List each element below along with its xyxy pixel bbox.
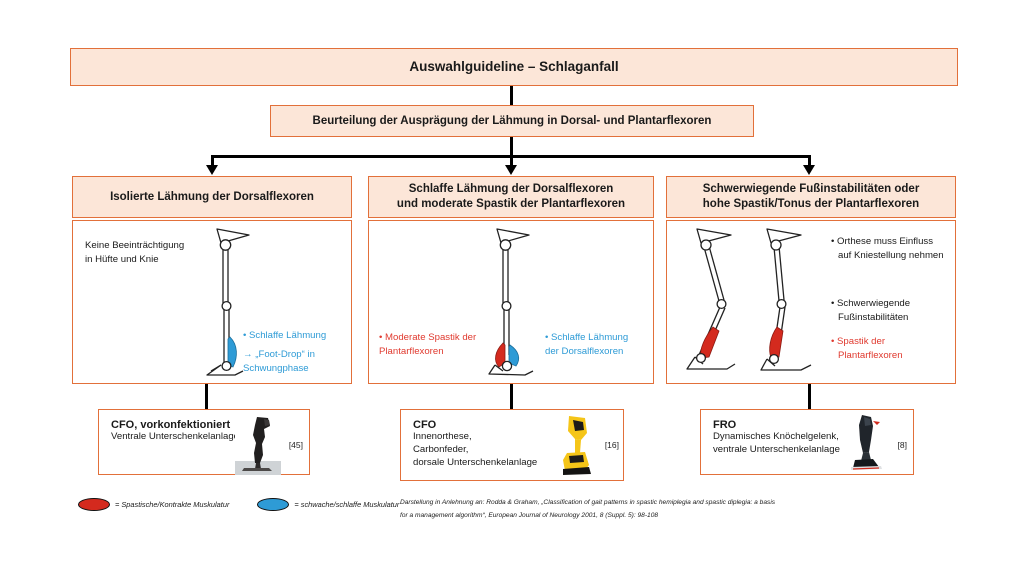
column-body-1: Keine Beeinträchtigung in Hüfte und Knie… <box>72 220 352 384</box>
assessment-text: Beurteilung der Ausprägung der Lähmung i… <box>313 114 712 129</box>
result-2-line-3: dorsale Unterschenkelanlage <box>413 457 537 470</box>
column-3-note-black-2: • Schwerwiegende Fußinstabilitäten <box>831 297 910 325</box>
arrow-to-column-2 <box>505 165 517 175</box>
column-header-1-text: Isolierte Lähmung der Dorsalflexoren <box>110 190 314 205</box>
arrow-to-column-3 <box>803 165 815 175</box>
connector-col2-to-result <box>510 384 513 409</box>
result-box-1: CFO, vorkonfektioniert Ventrale Untersch… <box>98 409 310 475</box>
result-2-line-1: Innenorthese, <box>413 431 537 444</box>
result-3-title: FRO <box>713 419 840 431</box>
column-3-note-red: • Spastik der Plantarflexoren <box>831 335 903 363</box>
blue-ellipse-icon <box>257 498 289 511</box>
connector-col1-to-result <box>205 384 208 409</box>
citation-line-1: Darstellung in Anlehnung an: Rodda & Gra… <box>400 497 830 510</box>
flowchart-canvas: Auswahlguideline – Schlaganfall Beurteil… <box>0 0 1024 576</box>
column-body-2: • Moderate Spastik der Plantarflexoren •… <box>368 220 654 384</box>
result-box-2: CFO Innenorthese, Carbonfeder, dorsale U… <box>400 409 624 481</box>
result-2-title: CFO <box>413 419 537 431</box>
column-header-3-text: Schwerwiegende Fußinstabilitäten oder ho… <box>703 182 920 212</box>
column-2-note-red: • Moderate Spastik der Plantarflexoren <box>379 331 476 359</box>
result-1-title: CFO, vorkonfektioniert <box>111 419 239 431</box>
result-3-reference: [8] <box>898 440 907 450</box>
column-3-note-black-1: • Orthese muss Einfluss auf Kniestellung… <box>831 235 944 263</box>
legend-item-spastic: = Spastische/Kontrakte Muskulatur <box>78 498 229 511</box>
connector-title-to-assessment <box>510 86 513 106</box>
result-2-line-2: Carbonfeder, <box>413 444 537 457</box>
column-header-2: Schlaffe Lähmung der Dorsalflexoren und … <box>368 176 654 218</box>
citation-line-2: for a management algorithm“, European Jo… <box>400 510 830 523</box>
red-ellipse-icon <box>78 498 110 511</box>
column-body-3: • Orthese muss Einfluss auf Kniestellung… <box>666 220 956 384</box>
result-1-line-1: Ventrale Unterschenkelanlage <box>111 431 239 444</box>
legend-flaccid-label: = schwache/schlaffe Muskulatur <box>294 500 399 509</box>
result-box-3: FRO Dynamisches Knöchelgelenk, ventrale … <box>700 409 914 475</box>
result-1-text: CFO, vorkonfektioniert Ventrale Untersch… <box>111 419 239 444</box>
legend: = Spastische/Kontrakte Muskulatur = schw… <box>78 498 421 511</box>
column-1-note-black: Keine Beeinträchtigung in Hüfte und Knie <box>85 239 184 267</box>
column-1-note-blue: • Schlaffe Lähmung → „Foot-Drop“ in Schw… <box>243 329 326 376</box>
result-2-text: CFO Innenorthese, Carbonfeder, dorsale U… <box>413 419 537 470</box>
orthosis-photo-black-cfo <box>235 413 281 475</box>
orthosis-photo-fro <box>841 412 887 474</box>
column-header-1: Isolierte Lähmung der Dorsalflexoren <box>72 176 352 218</box>
connector-col3-to-result <box>808 384 811 409</box>
column-header-3: Schwerwiegende Fußinstabilitäten oder ho… <box>666 176 956 218</box>
column-2-note-blue: • Schlaffe Lähmung der Dorsalflexoren <box>545 331 628 359</box>
leg-figure-spastic-equinus <box>743 227 829 379</box>
result-1-reference: [45] <box>289 440 303 450</box>
result-3-line-2: ventrale Unterschenkelanlage <box>713 444 840 457</box>
citation: Darstellung in Anlehnung an: Rodda & Gra… <box>400 497 830 522</box>
legend-spastic-label: = Spastische/Kontrakte Muskulatur <box>115 500 229 509</box>
assessment-box: Beurteilung der Ausprägung der Lähmung i… <box>270 105 754 137</box>
connector-assessment-stem <box>510 137 513 157</box>
result-2-reference: [16] <box>605 440 619 450</box>
orthosis-photo-yellow-cfo <box>551 413 599 479</box>
arrow-to-column-1 <box>206 165 218 175</box>
legend-item-flaccid: = schwache/schlaffe Muskulatur <box>257 498 399 511</box>
main-title-box: Auswahlguideline – Schlaganfall <box>70 48 958 86</box>
result-3-line-1: Dynamisches Knöchelgelenk, <box>713 431 840 444</box>
main-title-text: Auswahlguideline – Schlaganfall <box>409 58 618 76</box>
result-3-text: FRO Dynamisches Knöchelgelenk, ventrale … <box>713 419 840 457</box>
column-header-2-text: Schlaffe Lähmung der Dorsalflexoren und … <box>397 182 625 212</box>
